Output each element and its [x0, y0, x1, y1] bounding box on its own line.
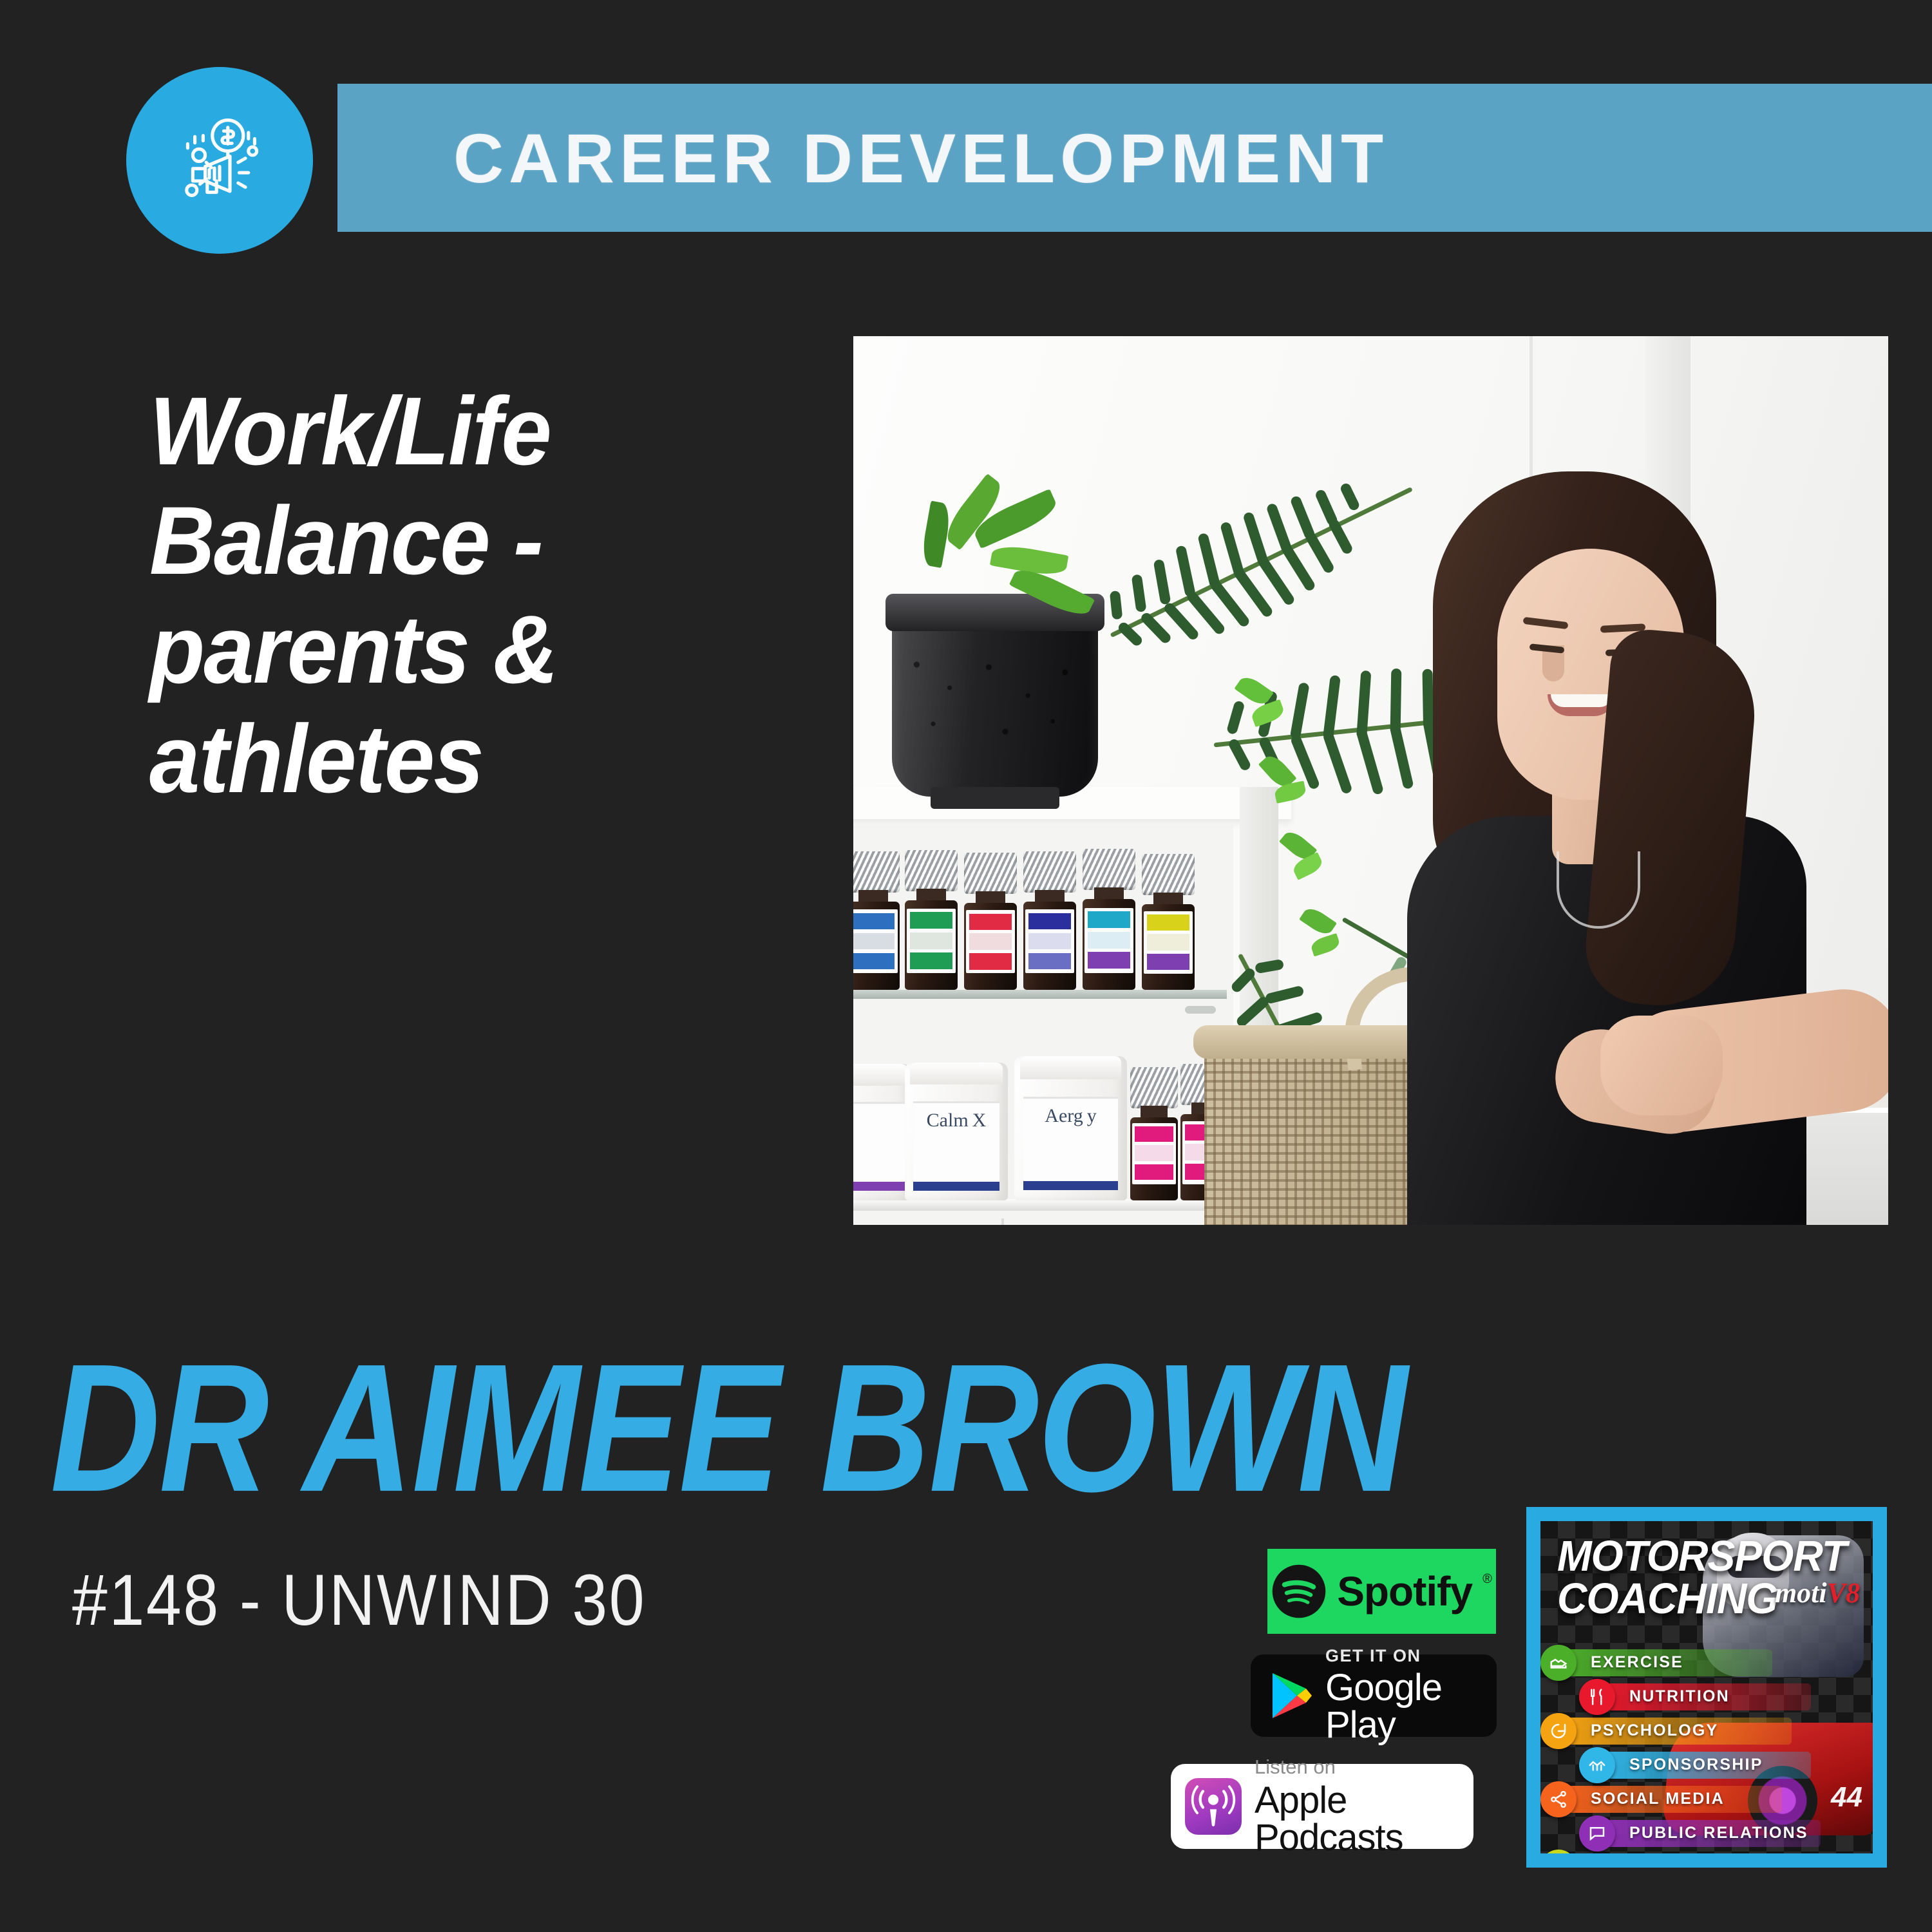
show-category-label: SPONSORSHIP [1629, 1756, 1763, 1774]
spotify-label: Spotify [1337, 1567, 1472, 1615]
spotify-icon [1271, 1564, 1327, 1619]
episode-title: Work/Life Balance - parents & athletes [149, 377, 730, 813]
spotify-trademark: ® [1482, 1572, 1492, 1587]
brain-icon [1540, 1713, 1577, 1749]
megaphone-money-icon [168, 109, 271, 212]
category-label: CAREER DEVELOPMENT [453, 118, 1388, 198]
category-icon-circle [126, 67, 313, 254]
show-category-row-psychology: PSYCHOLOGY [1540, 1716, 1873, 1746]
google-play-label: Google Play [1325, 1669, 1497, 1744]
google-play-icon [1270, 1672, 1312, 1719]
show-artwork[interactable]: 44 MOTORSPORT COACHING motiV8 EXERCISE [1526, 1507, 1887, 1868]
motiv8-brand-logo: motiV8 [1775, 1577, 1860, 1609]
share-icon [1540, 1781, 1577, 1817]
episode-title-line-4: athletes [149, 705, 730, 814]
show-category-row-nutrition: NUTRITION [1579, 1681, 1873, 1712]
apple-podcasts-badge[interactable]: Listen on Apple Podcasts [1171, 1764, 1473, 1849]
show-category-label: EXERCISE [1591, 1653, 1683, 1672]
show-category-label: PSYCHOLOGY [1591, 1721, 1718, 1740]
podcast-cover-art: CAREER DEVELOPMENT W [0, 0, 1932, 1932]
episode-title-line-3: parents & [149, 595, 730, 705]
speech-icon [1579, 1815, 1615, 1851]
motiv8-prefix: moti [1775, 1577, 1827, 1609]
food-icon [1579, 1679, 1615, 1715]
show-category-row-exercise: EXERCISE [1540, 1647, 1873, 1678]
apple-podcasts-icon [1185, 1778, 1242, 1835]
apple-podcasts-label: Apple Podcasts [1255, 1782, 1473, 1857]
show-category-row-media-training: MEDIA TRAINING [1540, 1852, 1873, 1853]
google-play-badge[interactable]: GET IT ON Google Play [1251, 1654, 1497, 1737]
episode-title-line-1: Work/Life [149, 377, 730, 486]
camera-icon [1540, 1850, 1577, 1854]
running-shoe-icon [1540, 1645, 1577, 1681]
guest-name: DR AIMEE BROWN [50, 1323, 1406, 1533]
category-band: CAREER DEVELOPMENT [337, 84, 1932, 232]
episode-title-line-2: Balance - [149, 486, 730, 596]
show-category-row-public-relations: PUBLIC RELATIONS [1579, 1818, 1873, 1848]
show-category-row-sponsorship: SPONSORSHIP [1579, 1750, 1873, 1780]
guest-photo: Calm X Aerg y [853, 336, 1888, 1225]
platform-badges: Spotify ® GET IT ON Google Play [1243, 1549, 1513, 1849]
spotify-badge[interactable]: Spotify ® [1267, 1549, 1496, 1634]
show-category-label: SOCIAL MEDIA [1591, 1790, 1725, 1808]
episode-number: #148 - UNWIND 30 [72, 1558, 646, 1642]
handshake-icon [1579, 1747, 1615, 1783]
show-category-row-social-media: SOCIAL MEDIA [1540, 1784, 1873, 1814]
show-title-line-1: MOTORSPORT [1557, 1535, 1846, 1578]
show-category-label: NUTRITION [1629, 1687, 1730, 1706]
google-play-small-label: GET IT ON [1325, 1647, 1497, 1665]
motiv8-suffix: V8 [1827, 1577, 1860, 1609]
apple-podcasts-small-label: Listen on [1255, 1757, 1473, 1777]
show-category-list: EXERCISE NUTRITION [1540, 1647, 1873, 1853]
show-category-label: PUBLIC RELATIONS [1629, 1824, 1808, 1842]
